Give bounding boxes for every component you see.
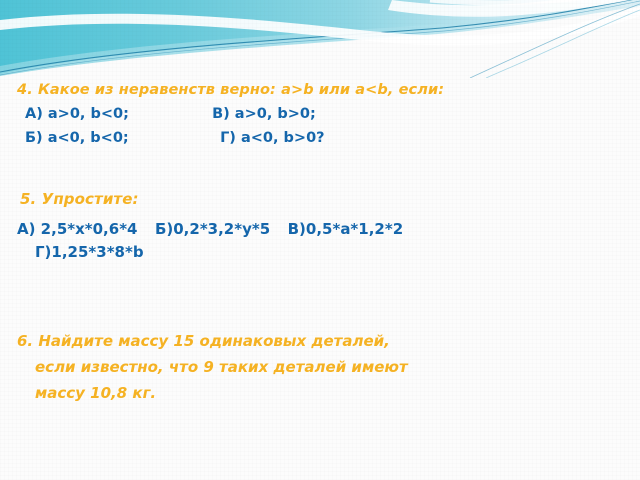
- question-4-option-b: Б) a<0, b<0;: [25, 130, 207, 146]
- question-4-options-row-2: Б) a<0, b<0; Г) a<0, b>0?: [25, 130, 325, 146]
- question-5-option-v: В)0,5*а*1,2*2: [288, 220, 404, 238]
- decorative-wave-banner: [0, 0, 640, 78]
- question-5-option-b: Б)0,2*3,2*у*5: [155, 220, 270, 238]
- question-4-option-a: А) a>0, b<0;: [25, 106, 207, 122]
- question-5-heading: 5. Упростите:: [20, 190, 139, 208]
- question-5-option-a: А) 2,5*х*0,6*4: [17, 220, 137, 238]
- question-4-option-v: В) a>0, b>0;: [212, 106, 316, 122]
- question-6-line-2: если известно, что 9 таких деталей имеют: [17, 354, 577, 380]
- question-4-option-g: Г) a<0, b>0?: [212, 130, 325, 146]
- question-4-heading: 4. Какое из неравенств верно: a>b или a<…: [17, 82, 444, 98]
- question-6-line-3: массу 10,8 кг.: [17, 380, 577, 406]
- question-6-line-1: 6. Найдите массу 15 одинаковых деталей,: [17, 328, 577, 354]
- question-5-answers: А) 2,5*х*0,6*4 Б)0,2*3,2*у*5 В)0,5*а*1,2…: [17, 218, 617, 264]
- question-6-heading: 6. Найдите массу 15 одинаковых деталей, …: [17, 328, 577, 406]
- question-5-answers-line-2: Г)1,25*3*8*b: [17, 241, 617, 264]
- question-4-options-row-1: А) a>0, b<0; В) a>0, b>0;: [25, 106, 316, 122]
- question-5-option-g: Г)1,25*3*8*b: [35, 243, 144, 261]
- slide-content: 4. Какое из неравенств верно: a>b или a<…: [0, 78, 640, 480]
- question-5-answers-line-1: А) 2,5*х*0,6*4 Б)0,2*3,2*у*5 В)0,5*а*1,2…: [17, 218, 617, 241]
- presentation-slide: 4. Какое из неравенств верно: a>b или a<…: [0, 0, 640, 480]
